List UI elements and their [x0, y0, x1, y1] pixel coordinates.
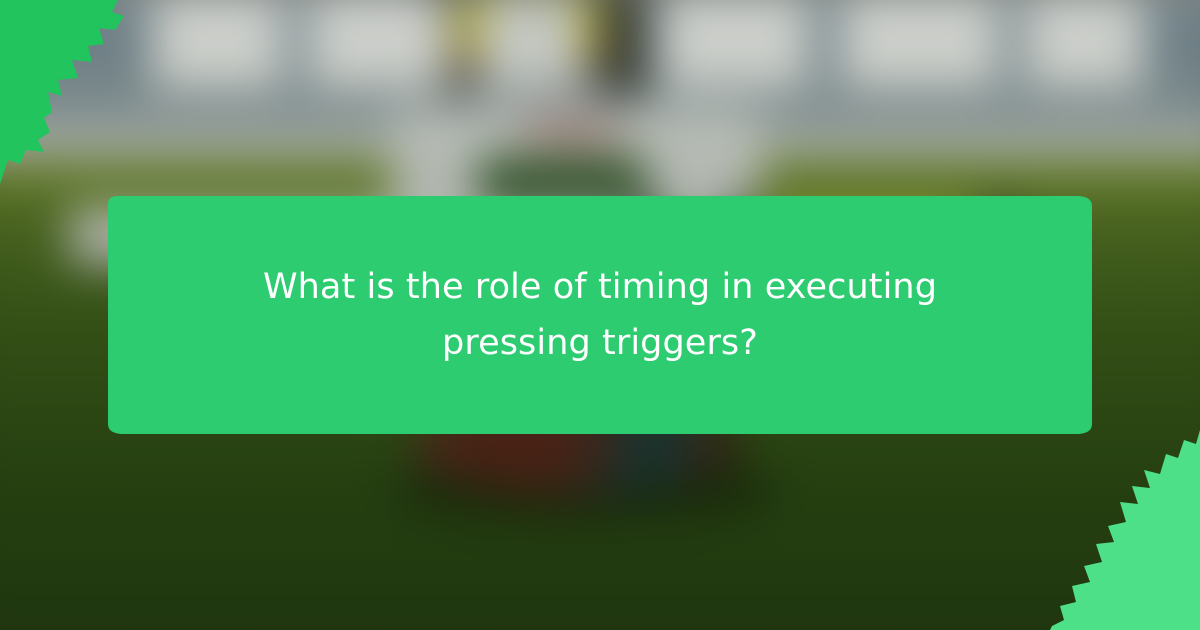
torn-corner-bottom-right-icon: [1050, 430, 1200, 630]
social-share-card: What is the role of timing in executing …: [0, 0, 1200, 630]
torn-corner-top-left-icon: [0, 0, 150, 190]
banner-question-text: What is the role of timing in executing …: [108, 196, 1092, 434]
question-banner: What is the role of timing in executing …: [108, 196, 1092, 434]
